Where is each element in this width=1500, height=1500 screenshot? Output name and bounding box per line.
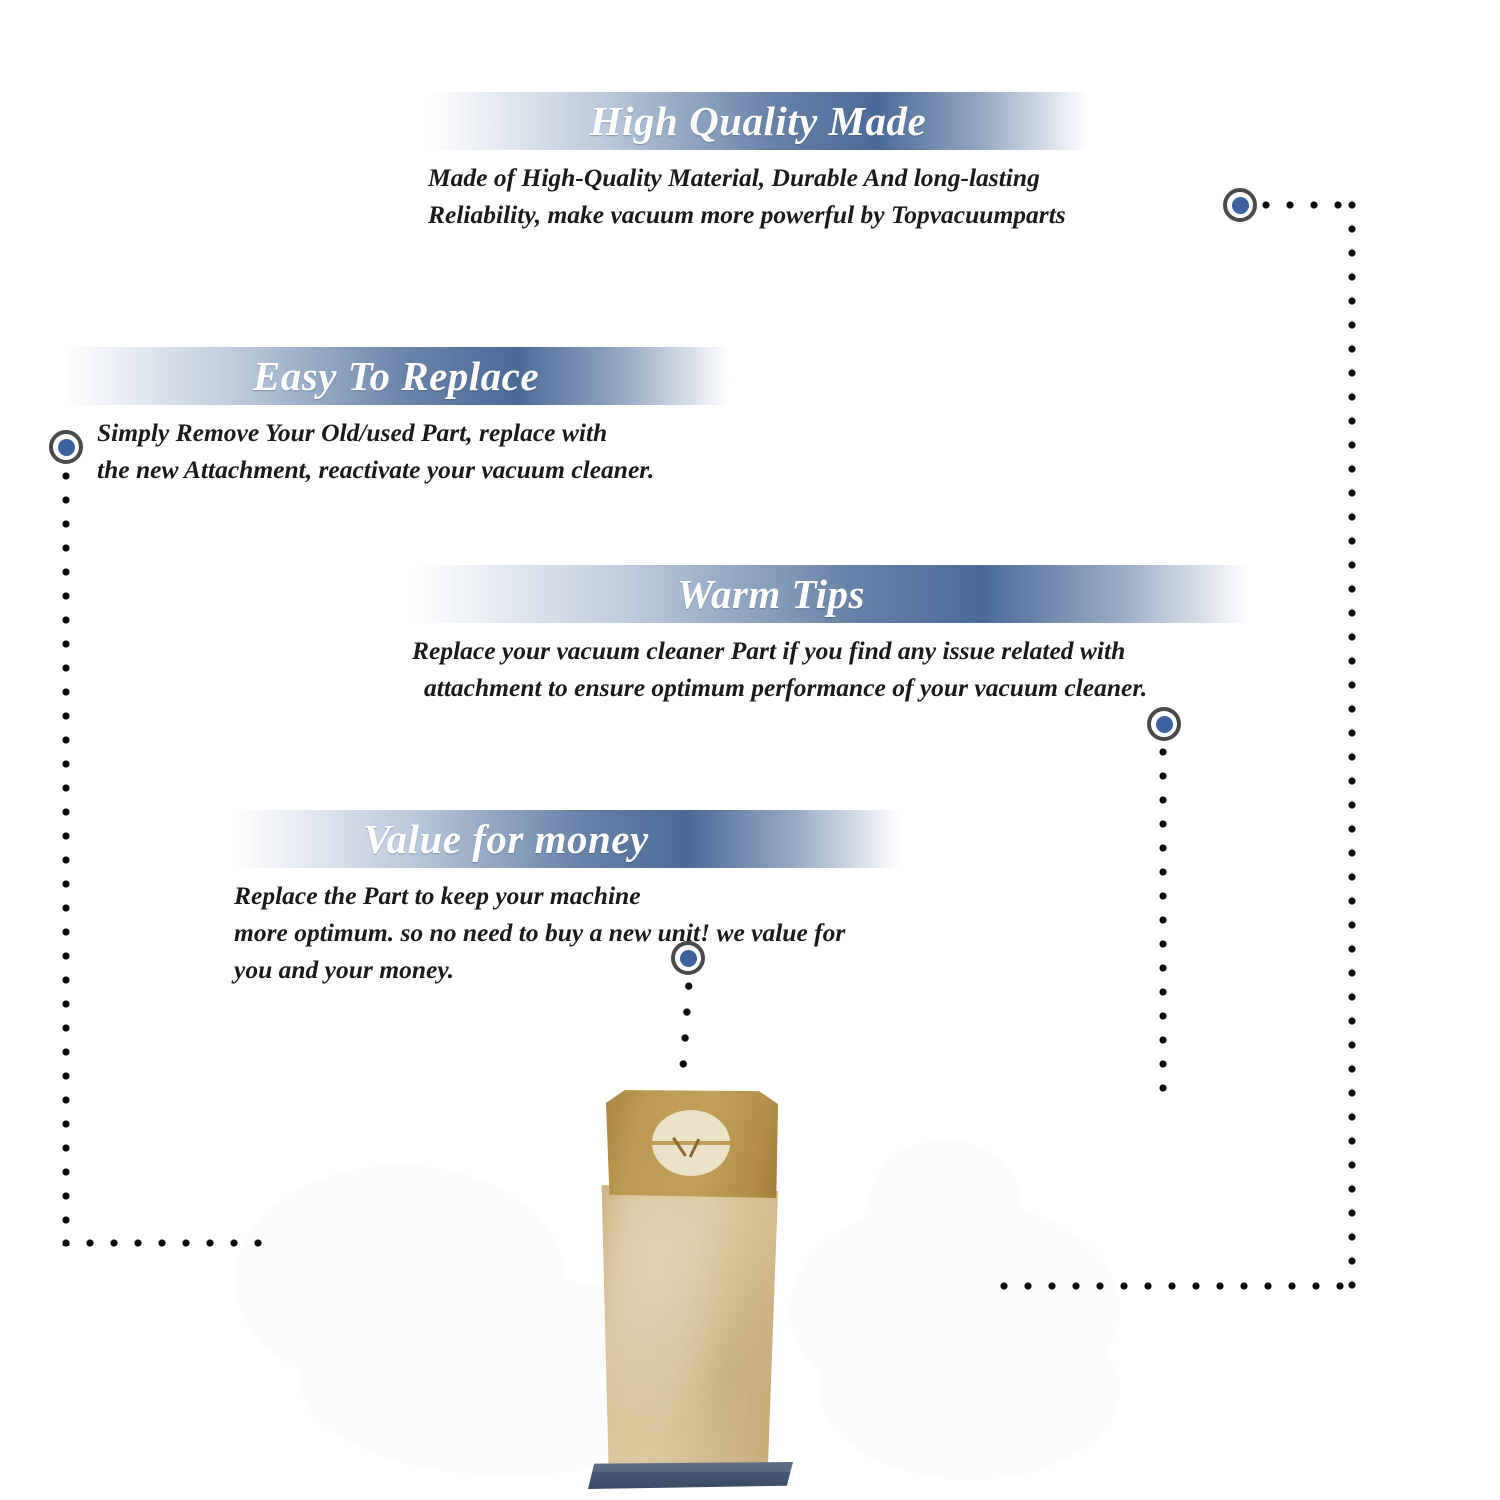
- section-title-easy-to-replace: Easy To Replace: [62, 352, 730, 400]
- body-line: you and your money.: [234, 951, 900, 988]
- body-line: Replace your vacuum cleaner Part if you …: [412, 632, 1250, 669]
- marker-warm-tips[interactable]: [1147, 707, 1181, 741]
- body-line: Made of High-Quality Material, Durable A…: [428, 159, 1088, 196]
- background-watermark-blob: [235, 1165, 565, 1395]
- section-title-value-for-money: Value for money: [232, 815, 900, 863]
- section-body-easy-to-replace: Simply Remove Your Old/used Part, replac…: [62, 414, 730, 488]
- connector-dots-easy-replace-vertical-left: [62, 472, 70, 1246]
- bag-inlet-opening: [652, 1110, 730, 1176]
- body-line: the new Attachment, reactivate your vacu…: [97, 451, 730, 488]
- bag-inlet-flap-top: [652, 1110, 730, 1141]
- background-watermark-blob: [870, 1140, 1020, 1260]
- bag-body: [598, 1185, 778, 1485]
- marker-easy-to-replace[interactable]: [49, 430, 83, 464]
- section-body-high-quality-made: Made of High-Quality Material, Durable A…: [428, 159, 1088, 233]
- background-watermark-blob: [820, 1300, 1120, 1480]
- connector-dots-easy-replace-horizontal-bottom: [62, 1239, 266, 1247]
- body-line: attachment to ensure optimum performance…: [412, 669, 1250, 706]
- section-warm-tips: Warm Tips Replace your vacuum cleaner Pa…: [412, 565, 1250, 706]
- body-line: Replace the Part to keep your machine: [234, 877, 900, 914]
- body-line: more optimum. so no need to buy a new un…: [234, 914, 900, 951]
- section-banner-warm-tips: Warm Tips: [412, 565, 1250, 623]
- connector-dots-value-money-vertical: [671, 981, 696, 1080]
- connector-dots-high-quality-horizontal-top: [1262, 201, 1358, 209]
- marker-high-quality-made[interactable]: [1223, 188, 1257, 222]
- product-image-vacuum-paper-bag: [560, 1090, 850, 1500]
- connector-dots-high-quality-vertical-right: [1348, 201, 1356, 1289]
- section-banner-value-for-money: Value for money: [232, 810, 900, 868]
- infographic-canvas: High Quality Made Made of High-Quality M…: [0, 0, 1500, 1500]
- section-title-warm-tips: Warm Tips: [412, 570, 1250, 618]
- section-banner-easy-to-replace: Easy To Replace: [62, 347, 730, 405]
- section-body-warm-tips: Replace your vacuum cleaner Part if you …: [412, 632, 1250, 706]
- bag-bottom-seam-highlight: [588, 1462, 793, 1472]
- connector-dots-high-quality-horizontal-bottom: [1000, 1282, 1354, 1290]
- bag-body-texture: [598, 1185, 778, 1485]
- section-body-value-for-money: Replace the Part to keep your machine mo…: [232, 877, 900, 989]
- connector-dots-warm-tips-vertical: [1159, 748, 1167, 1100]
- section-easy-to-replace: Easy To Replace Simply Remove Your Old/u…: [62, 347, 730, 488]
- bag-bottom-seam: [588, 1462, 793, 1489]
- section-high-quality-made: High Quality Made Made of High-Quality M…: [428, 92, 1088, 233]
- body-line: Reliability, make vacuum more powerful b…: [428, 196, 1088, 233]
- section-title-high-quality-made: High Quality Made: [428, 97, 1088, 145]
- section-banner-high-quality-made: High Quality Made: [428, 92, 1088, 150]
- section-value-for-money: Value for money Replace the Part to keep…: [232, 810, 900, 989]
- bag-cardboard-collar: [606, 1090, 778, 1198]
- body-line: Simply Remove Your Old/used Part, replac…: [97, 414, 730, 451]
- marker-value-for-money[interactable]: [671, 941, 705, 975]
